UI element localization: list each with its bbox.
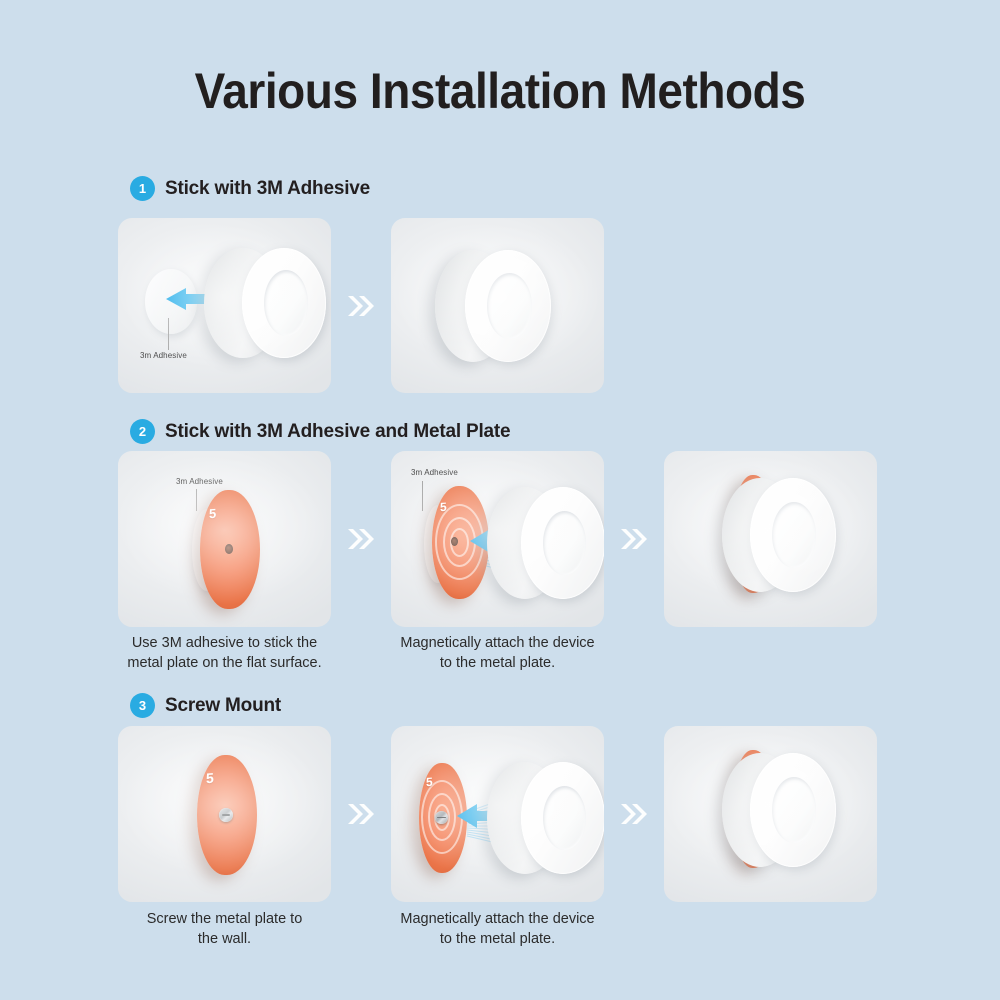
caption-step2-panel2: Magnetically attach the device to the me… [391,634,604,673]
double-chevron-right-icon-3 [604,451,664,627]
device-dome [543,511,586,575]
caption-line: Magnetically attach the device [391,634,604,654]
plate-center-hole [451,537,458,546]
device-dome [772,502,816,568]
step-1-illustration-row: 3m Adhesive [118,218,604,393]
panel-step3-magnetic-attach: 5 [391,726,604,902]
caption-line: to the metal plate. [391,930,604,950]
step-badge-2: 2 [130,419,155,444]
plate-logo: 5 [426,776,433,788]
panel-step3-screwed-plate: 5 [118,726,331,902]
device-mounted [734,753,836,867]
callout-leader-line [168,318,169,350]
adhesive-label: 3m Adhesive [411,468,458,477]
caption-step3-panel1: Screw the metal plate to the wall. [118,910,331,949]
caption-line: the wall. [118,930,331,950]
double-chevron-right-icon-4 [331,726,391,902]
device-dome [487,273,532,339]
caption-step2-panel1: Use 3M adhesive to stick the metal plate… [118,634,331,673]
device-mounted [451,250,551,362]
screw-head [219,808,233,822]
double-chevron-right-icon-5 [604,726,664,902]
step-title-2: Stick with 3M Adhesive and Metal Plate [165,421,510,443]
panel-step3-installed: 5 [664,726,877,902]
step-header-1: 1 Stick with 3M Adhesive [130,176,370,201]
step-badge-3: 3 [130,693,155,718]
device-mounted [734,478,836,592]
metal-plate: 5 [200,490,260,609]
caption-step3-panel2: Magnetically attach the device to the me… [391,910,604,949]
panel-step1-before: 3m Adhesive [118,218,331,393]
panel-step2-installed: 5 [664,451,877,627]
callout-leader-line [196,489,197,511]
step-title-1: Stick with 3M Adhesive [165,178,370,200]
adhesive-label: 3m Adhesive [140,351,187,360]
device-dome [772,777,816,843]
step-badge-1: 1 [130,176,155,201]
plate-logo: 5 [209,507,216,521]
caption-line: Screw the metal plate to [118,910,331,930]
adhesive-label: 3m Adhesive [176,477,223,486]
double-chevron-right-icon-2 [331,451,391,627]
step-3-illustration-row: 5 5 [118,726,877,902]
double-chevron-right-icon-1 [331,218,391,393]
caption-line: Use 3M adhesive to stick the [118,634,331,654]
device-dome [264,270,308,336]
panel-step1-after [391,218,604,393]
panel-step2-plate-only: 3m Adhesive 5 [118,451,331,627]
caption-line: Magnetically attach the device [391,910,604,930]
callout-leader-line [422,481,423,511]
caption-line: to the metal plate. [391,654,604,674]
caption-line: metal plate on the flat surface. [118,654,331,674]
plate-logo: 5 [206,771,214,786]
device-floating [226,248,318,358]
step-title-3: Screw Mount [165,695,281,717]
page-title: Various Installation Methods [40,62,960,120]
metal-plate: 5 [197,755,257,875]
screw-head [435,811,448,824]
device-floating [509,762,601,874]
step-header-3: 3 Screw Mount [130,693,281,718]
plate-center-hole [225,544,233,554]
step-2-illustration-row: 3m Adhesive 5 3m Adhesive [118,451,877,627]
step-header-2: 2 Stick with 3M Adhesive and Metal Plate [130,419,510,444]
plate-logo: 5 [440,501,447,513]
panel-step2-magnetic-attach: 3m Adhesive 5 [391,451,604,627]
device-dome [543,786,586,850]
device-floating [509,487,601,599]
